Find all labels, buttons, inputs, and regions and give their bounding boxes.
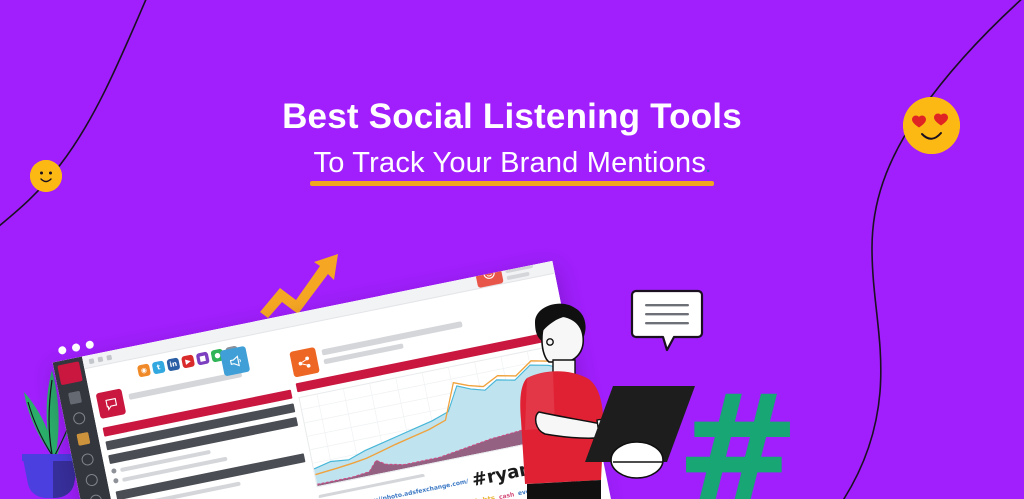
- window-controls[interactable]: [58, 340, 95, 355]
- share-tile[interactable]: [289, 347, 320, 378]
- toolbar-control[interactable]: [106, 354, 112, 360]
- speech-bubble: [630, 288, 704, 356]
- radio-icon[interactable]: [113, 478, 119, 484]
- kpi-value-placeholder: [505, 264, 533, 274]
- speech-icon: [102, 395, 120, 413]
- smiley-icon: [480, 264, 498, 282]
- sidebar-item-mail[interactable]: [72, 411, 86, 425]
- mentions-tile[interactable]: [96, 388, 127, 419]
- hero-headline: Best Social Listening Tools To Track You…: [0, 95, 1024, 186]
- window-dot: [85, 340, 94, 349]
- toolbar-control[interactable]: [89, 358, 95, 364]
- twitter-icon[interactable]: t: [152, 360, 166, 374]
- megaphone-icon: [226, 352, 244, 370]
- window-dot: [58, 346, 67, 355]
- sidebar-item-chart[interactable]: [85, 473, 99, 487]
- sidebar-item-home[interactable]: [68, 391, 82, 405]
- sidebar-item-clock[interactable]: [89, 494, 103, 499]
- word-cloud-term[interactable]: flights: [470, 496, 496, 499]
- toolbar-control[interactable]: [97, 356, 103, 362]
- page-subtitle-wrap: To Track Your Brand Mentions.: [310, 147, 715, 186]
- page-title: Best Social Listening Tools: [0, 95, 1024, 139]
- radio-icon[interactable]: [111, 468, 117, 474]
- twitch-icon[interactable]: ■: [196, 351, 210, 365]
- app-logo-icon[interactable]: [57, 361, 83, 385]
- subtitle-period: .: [706, 159, 710, 176]
- instagram-icon[interactable]: ◉: [137, 363, 151, 377]
- megaphone-tile[interactable]: [220, 346, 251, 377]
- linkedin-icon[interactable]: in: [166, 357, 180, 371]
- subtitle-underline: [310, 181, 715, 186]
- youtube-icon[interactable]: ▶: [181, 354, 195, 368]
- sidebar-item-pin[interactable]: [76, 432, 90, 446]
- page-subtitle: To Track Your Brand Mentions: [314, 147, 706, 179]
- hero-banner: Best Social Listening Tools To Track You…: [0, 0, 1024, 499]
- share-icon: [296, 353, 314, 371]
- sidebar-item-user[interactable]: [81, 452, 95, 466]
- window-dot: [71, 343, 80, 352]
